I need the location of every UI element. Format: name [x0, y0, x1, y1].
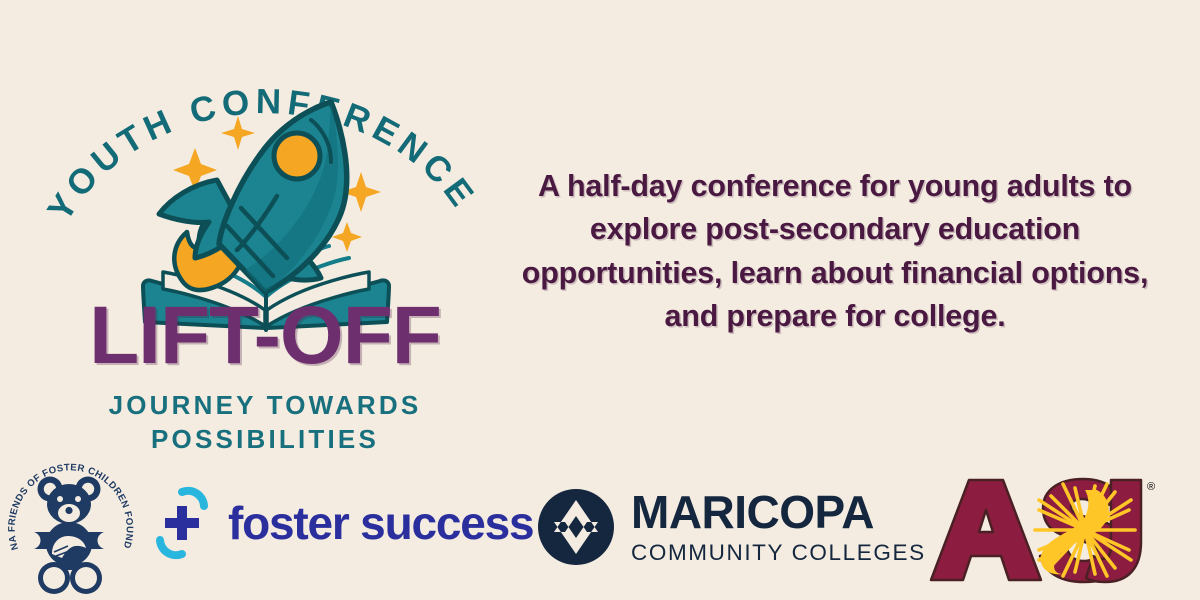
partner-logo-strip: ARIZONA FRIENDS OF FOSTER CHILDREN FOUND… [0, 448, 1200, 600]
maricopa-wordmark-main: MARICOPA [631, 489, 926, 535]
asu-sunburst-icon: ® [925, 468, 1160, 588]
tagline-line-1: JOURNEY TOWARDS [40, 389, 490, 422]
foster-success-wordmark: foster success [228, 496, 533, 550]
partner-logo-maricopa: MARICOPA COMMUNITY COLLEGES [535, 486, 926, 568]
event-banner: YOUTH CONFERENCE [0, 0, 1200, 600]
partner-logo-foster-success: foster success [148, 484, 533, 562]
partner-logo-asu: ® [925, 468, 1160, 588]
teddy-bear-icon [24, 477, 115, 595]
partner-logo-affcf: ARIZONA FRIENDS OF FOSTER CHILDREN FOUND… [6, 450, 136, 600]
maricopa-monogram-icon [535, 486, 617, 568]
lift-off-logo-lockup: YOUTH CONFERENCE [40, 8, 490, 448]
tagline-block: JOURNEY TOWARDS POSSIBILITIES [40, 389, 490, 456]
maricopa-wordmark-block: MARICOPA COMMUNITY COLLEGES [631, 489, 926, 565]
event-description: A half-day conference for young adults t… [505, 165, 1165, 338]
asu-trademark-symbol: ® [1147, 481, 1155, 493]
page-title: LIFT-OFF [40, 298, 490, 373]
plus-with-arcs-icon [148, 484, 216, 562]
wordmark-block: LIFT-OFF JOURNEY TOWARDS POSSIBILITIES [40, 298, 490, 456]
maricopa-wordmark-sub: COMMUNITY COLLEGES [631, 542, 926, 565]
